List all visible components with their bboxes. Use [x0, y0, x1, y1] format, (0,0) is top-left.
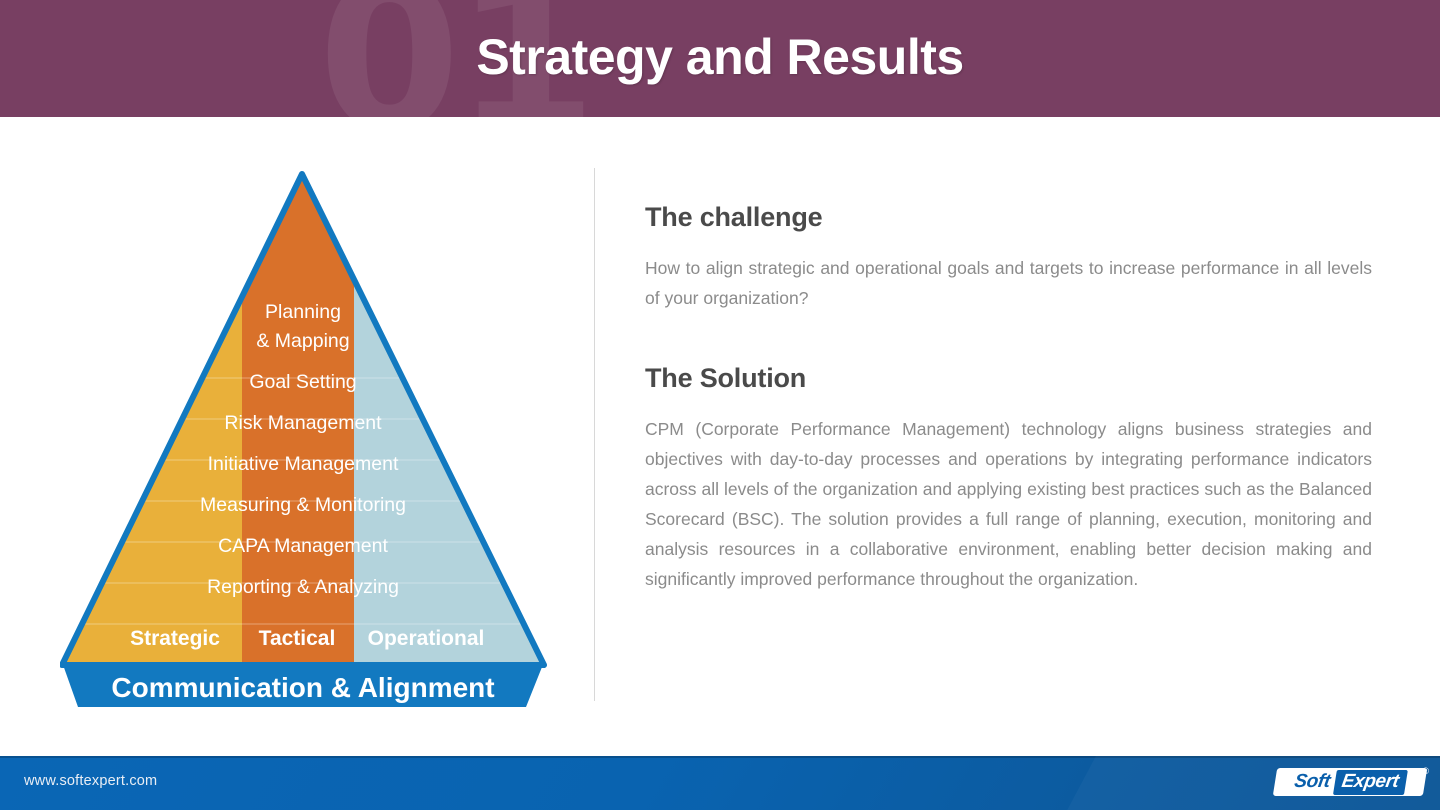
logo-word-expert: Expert — [1333, 770, 1408, 795]
challenge-heading: The challenge — [645, 202, 1372, 233]
logo-word-soft: Soft — [1293, 771, 1332, 793]
pyramid-row-label-1: & Mapping — [256, 330, 349, 352]
pyramid-row-label-0: Planning — [265, 301, 341, 323]
pyramid-row-label-3: Risk Management — [224, 412, 382, 434]
pyramid-row-label-6: CAPA Management — [218, 535, 388, 557]
column-operational — [354, 165, 550, 675]
column-strategic — [60, 165, 242, 675]
pyramid-svg: Planning & Mapping Goal Setting Risk Man… — [60, 165, 550, 710]
slide-footer: www.softexpert.com Soft Expert ® — [0, 756, 1440, 810]
pyramid-row-label-5: Measuring & Monitoring — [200, 494, 406, 516]
pyramid-row-label-2: Goal Setting — [249, 371, 356, 393]
pyramid-tier-label-tactical: Tactical — [259, 627, 336, 650]
solution-heading: The Solution — [645, 363, 1372, 394]
challenge-body: How to align strategic and operational g… — [645, 253, 1372, 313]
pyramid-diagram: Planning & Mapping Goal Setting Risk Man… — [60, 165, 550, 710]
pyramid-row-label-7: Reporting & Analyzing — [207, 576, 399, 598]
challenge-block: The challenge How to align strategic and… — [645, 202, 1372, 313]
slide-header: 01 Strategy and Results — [0, 0, 1440, 117]
pyramid-tier-label-operational: Operational — [368, 627, 485, 650]
pyramid-row-label-4: Initiative Management — [208, 453, 399, 475]
logo-trademark-icon: ® — [1422, 766, 1429, 776]
solution-block: The Solution CPM (Corporate Performance … — [645, 363, 1372, 594]
solution-body: CPM (Corporate Performance Management) t… — [645, 414, 1372, 594]
content-spacer — [645, 313, 1372, 363]
slide-body: Planning & Mapping Goal Setting Risk Man… — [0, 117, 1440, 756]
content-column: The challenge How to align strategic and… — [645, 202, 1372, 594]
softexpert-logo[interactable]: Soft Expert ® — [1275, 766, 1427, 799]
footer-website-url[interactable]: www.softexpert.com — [24, 773, 157, 789]
pyramid-tier-label-strategic: Strategic — [130, 627, 220, 650]
logo-text: Soft Expert — [1273, 768, 1427, 796]
column-divider — [594, 168, 595, 701]
page-title: Strategy and Results — [0, 28, 1440, 86]
pyramid-base-label: Communication & Alignment — [111, 672, 494, 703]
